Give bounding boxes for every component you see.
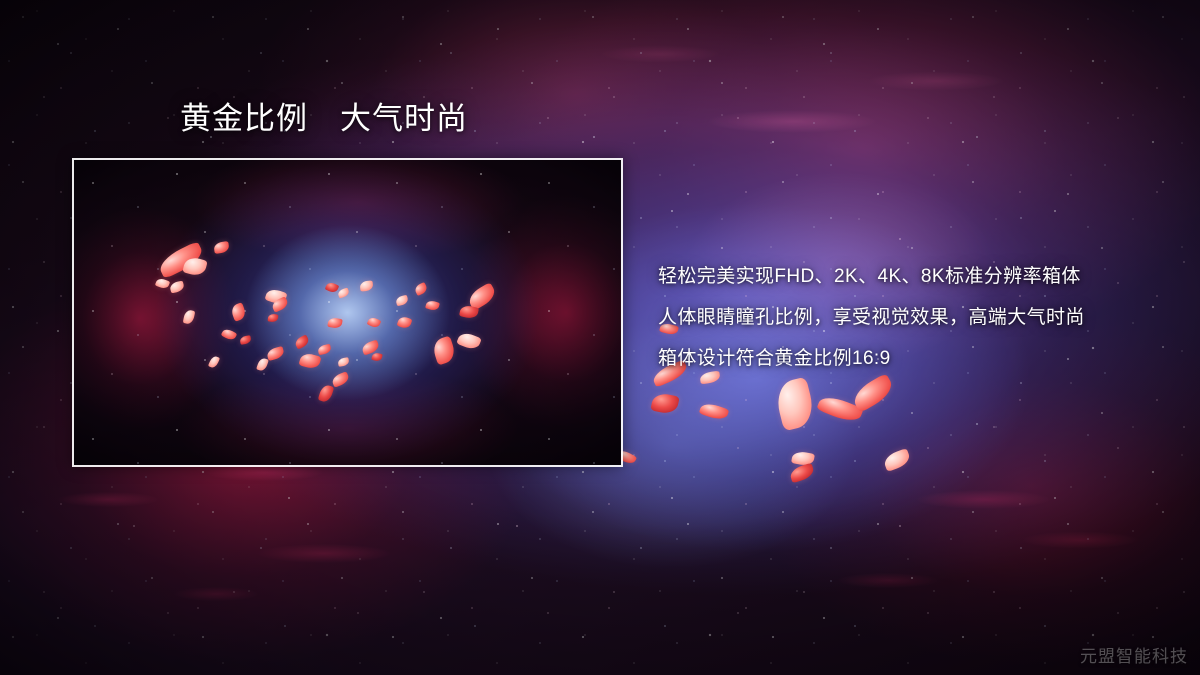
flower-petal bbox=[317, 344, 332, 356]
flower-petal bbox=[169, 280, 185, 293]
flower-petal bbox=[360, 280, 374, 291]
flower-petal bbox=[371, 352, 383, 362]
body-copy: 轻松完美实现FHD、2K、4K、8K标准分辨率箱体 人体眼睛瞳孔比例，享受视觉效… bbox=[658, 256, 1168, 379]
flower-petal bbox=[395, 295, 409, 307]
flower-petal bbox=[182, 256, 207, 278]
flower-petal bbox=[267, 313, 278, 322]
flower-petal bbox=[213, 241, 229, 254]
flower-petal bbox=[221, 327, 238, 342]
flower-petal bbox=[466, 282, 499, 311]
flower-petal bbox=[367, 316, 382, 329]
flower-petal bbox=[230, 302, 248, 321]
framed-image bbox=[72, 158, 623, 467]
flower-petal bbox=[239, 335, 251, 345]
flower-petal bbox=[327, 317, 343, 329]
flower-petal bbox=[208, 355, 220, 369]
flower-petal bbox=[183, 309, 196, 325]
framed-image-petal-group bbox=[74, 160, 621, 465]
flower-petal bbox=[413, 282, 428, 296]
flower-petal bbox=[331, 371, 351, 388]
flower-petal bbox=[425, 299, 440, 311]
flower-petal bbox=[361, 339, 381, 355]
flower-petal bbox=[256, 357, 269, 372]
body-copy-line-3: 箱体设计符合黄金比例16:9 bbox=[658, 338, 1168, 379]
body-copy-line-1: 轻松完美实现FHD、2K、4K、8K标准分辨率箱体 bbox=[658, 256, 1168, 297]
watermark: 元盟智能科技 bbox=[1080, 642, 1188, 667]
flower-petal bbox=[337, 357, 349, 367]
flower-petal bbox=[270, 296, 289, 313]
flower-petal bbox=[397, 315, 413, 330]
slide-canvas: 黄金比例 大气时尚 轻松完美实现FHD、2K、4K、8K标准分辨率箱体 人体眼睛… bbox=[0, 0, 1200, 675]
flower-petal bbox=[293, 334, 310, 349]
flower-petal bbox=[337, 287, 350, 298]
flower-petal bbox=[264, 287, 287, 306]
flower-petal bbox=[456, 330, 482, 351]
flower-petal bbox=[266, 346, 285, 361]
page-title: 黄金比例 大气时尚 bbox=[180, 100, 468, 139]
flower-petal bbox=[325, 281, 340, 294]
body-copy-line-2: 人体眼睛瞳孔比例，享受视觉效果，高端大气时尚 bbox=[658, 297, 1168, 338]
flower-petal bbox=[459, 304, 479, 319]
flower-petal bbox=[431, 336, 458, 366]
flower-petal bbox=[155, 277, 170, 290]
flower-petal bbox=[298, 352, 321, 371]
flower-petal bbox=[156, 241, 206, 279]
flower-petal bbox=[318, 384, 335, 404]
